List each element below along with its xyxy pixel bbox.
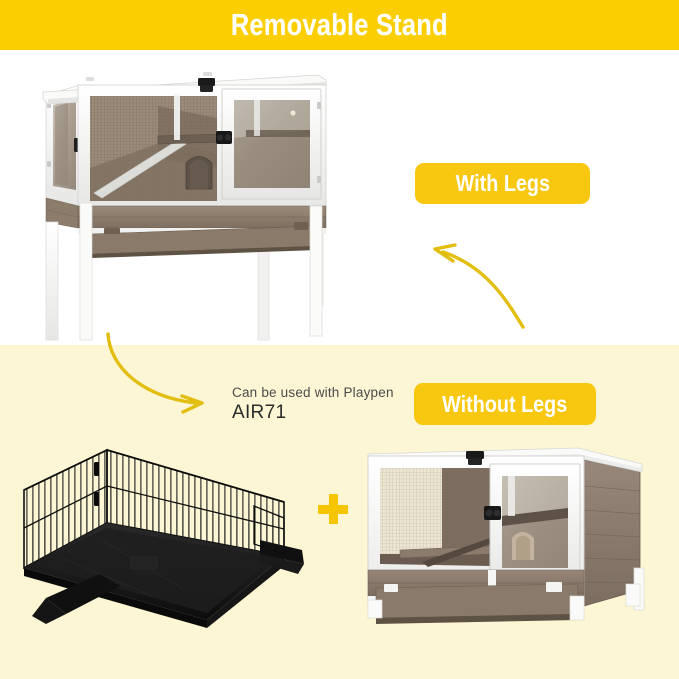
playpen-model-code: AIR71 xyxy=(232,402,422,424)
badge-with-legs: With Legs xyxy=(415,163,590,204)
product-image-hutch-with-legs xyxy=(8,58,353,348)
infographic-canvas: Removable Stand xyxy=(0,0,679,679)
plus-sign-icon xyxy=(318,494,348,524)
badge-without-legs-label: Without Legs xyxy=(442,391,567,418)
product-image-hutch-without-legs xyxy=(362,438,674,636)
product-image-playpen xyxy=(2,428,312,636)
top-center-latch-icon xyxy=(198,78,215,92)
playpen-caption: Can be used with Playpen AIR71 xyxy=(232,385,422,424)
page-title: Removable Stand xyxy=(231,7,448,43)
badge-with-legs-label: With Legs xyxy=(455,170,549,197)
badge-without-legs: Without Legs xyxy=(414,383,596,425)
pull-out-tray-2 xyxy=(376,582,578,624)
hutch-right-door xyxy=(216,89,321,199)
playpen-caption-line1: Can be used with Playpen xyxy=(232,385,422,400)
top-center-latch-icon-2 xyxy=(466,451,484,465)
header-banner: Removable Stand xyxy=(0,0,679,50)
hutch2-front-door xyxy=(484,464,580,580)
